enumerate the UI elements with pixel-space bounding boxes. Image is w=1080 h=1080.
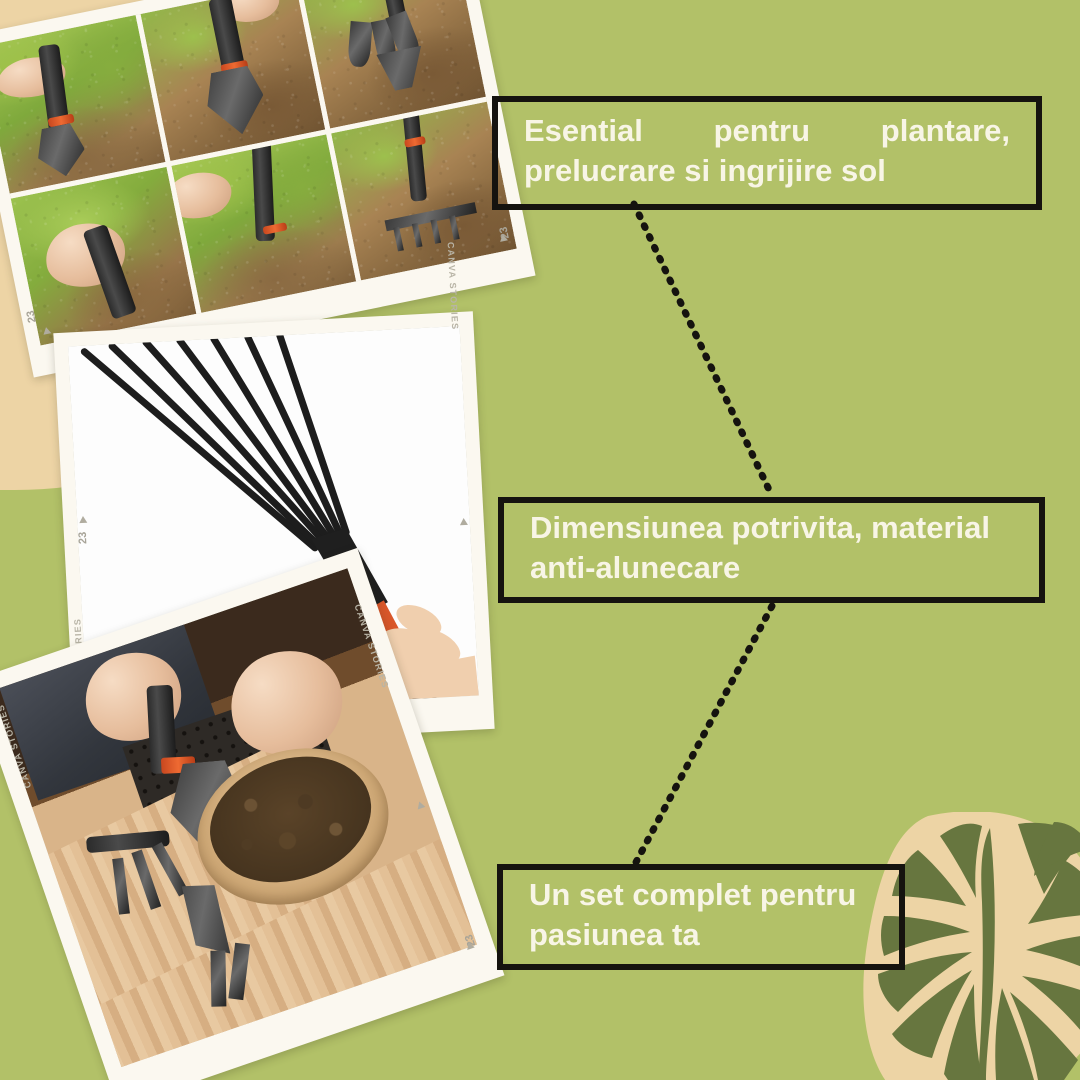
photo-top-collage-image	[0, 0, 517, 346]
dotted-connector-1	[600, 200, 820, 520]
dotted-connector-2	[610, 590, 790, 880]
film-number-middle-left: 23	[77, 531, 90, 544]
callout-box-3: Un set complet pentru pasiunea ta	[497, 864, 905, 970]
collage-cell-2	[140, 0, 325, 161]
spare-tool-prongs	[210, 951, 226, 1007]
poster-canvas: CANVA STORIES 23 23	[0, 0, 1080, 1080]
film-number-top-left: 23	[25, 309, 39, 323]
film-triangle-bottom-right	[465, 941, 475, 950]
collage-cell-4	[11, 167, 196, 346]
callout-box-2: Dimensiunea potrivita, material anti-alu…	[498, 497, 1045, 603]
collage-cell-5	[171, 134, 356, 313]
collage-cell-6	[331, 102, 516, 281]
callout-text-1: Esential pentru plantare, prelucrare si …	[524, 111, 1010, 190]
film-triangle-middle-right	[460, 518, 468, 525]
callout-text-2: Dimensiunea potrivita, material anti-alu…	[530, 508, 1013, 587]
collage-cell-1	[0, 15, 165, 194]
callout-text-3: Un set complet pentru pasiunea ta	[529, 875, 873, 954]
callout-box-1: Esential pentru plantare, prelucrare si …	[492, 96, 1042, 210]
film-triangle-middle-left	[79, 516, 87, 523]
